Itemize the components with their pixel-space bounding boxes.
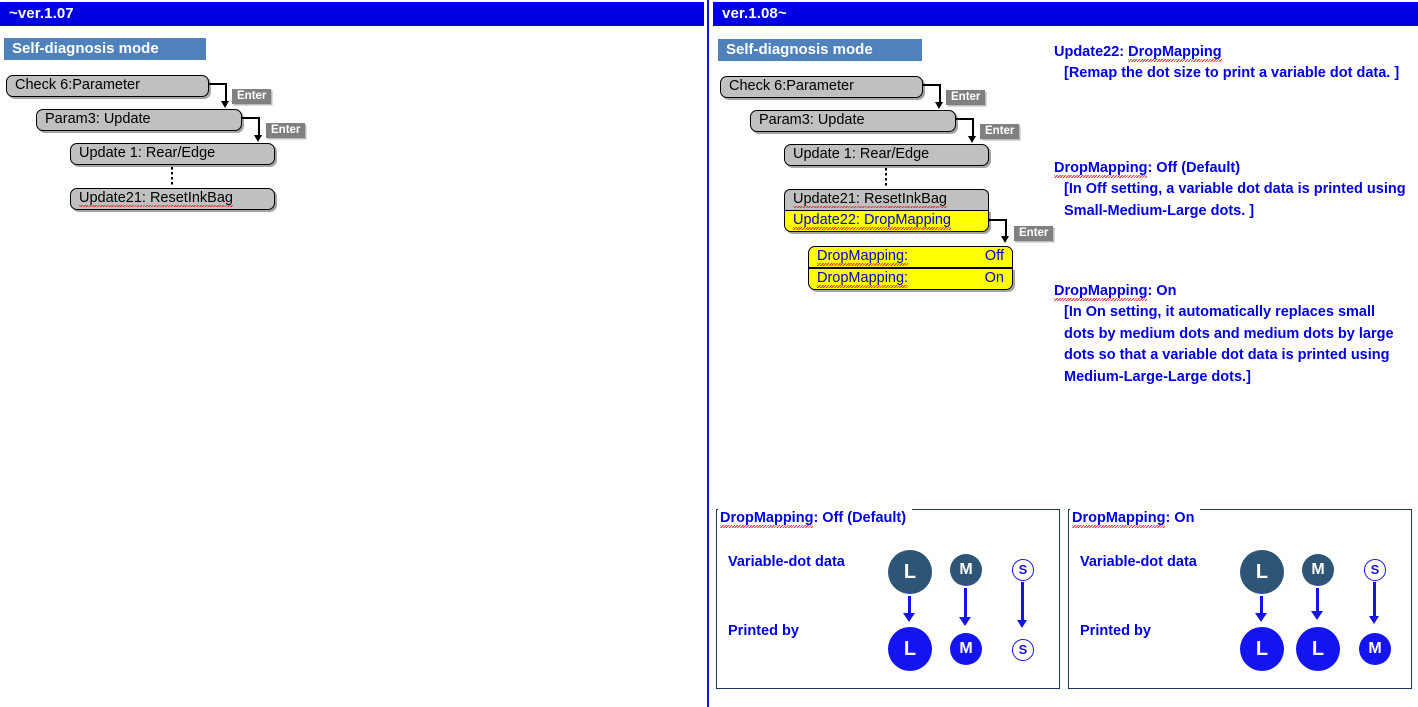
dot-output-large: L: [1240, 627, 1284, 671]
option-value: Off: [985, 247, 1004, 266]
description-dropmapping-off: DropMapping: Off (Default) [In Off setti…: [1054, 158, 1406, 222]
left-mode-badge-label: Self-diagnosis mode: [12, 40, 159, 57]
connector-arrowhead: [221, 101, 229, 108]
connector-arrowhead: [968, 136, 976, 143]
option-value: On: [985, 269, 1004, 288]
connector-arrowhead: [1001, 236, 1009, 243]
mapping-arrow: [964, 588, 967, 620]
diagram-title-term: DropMapping: [720, 510, 813, 526]
menu-item-label: Param3: Update: [759, 112, 865, 128]
enter-key-label: Enter: [1019, 227, 1048, 239]
connector-vertical: [258, 117, 260, 137]
left-version-label: ~ver.1.07: [9, 5, 74, 22]
dot-output-large: L: [888, 627, 932, 671]
menu-item-param3-update[interactable]: Param3: Update: [750, 110, 956, 132]
panel-divider: [707, 0, 709, 707]
menu-item-update1-rear-edge[interactable]: Update 1: Rear/Edge: [70, 143, 275, 165]
right-version-bar: ver.1.08~: [713, 2, 1418, 26]
description-body: [Remap the dot size to print a variable …: [1064, 63, 1406, 85]
connector-arrowhead: [935, 102, 943, 109]
dot-output-medium: M: [950, 633, 982, 665]
heading-prefix: Update22:: [1054, 44, 1128, 60]
description-update22: Update22: DropMapping [Remap the dot siz…: [1054, 42, 1406, 85]
diagram-row-label-output: Printed by: [728, 623, 799, 639]
heading-term: DropMapping: [1054, 160, 1147, 176]
heading-suffix: : On: [1147, 283, 1176, 299]
menu-item-label: Param3: Update: [45, 111, 151, 127]
description-heading: DropMapping: On: [1054, 281, 1406, 302]
diagram-row-label-output: Printed by: [1080, 623, 1151, 639]
diagram-title-suffix: : Off (Default): [813, 510, 906, 526]
menu-item-check-parameter[interactable]: Check 6:Parameter: [720, 76, 923, 98]
menu-item-update1-rear-edge[interactable]: Update 1: Rear/Edge: [784, 144, 989, 166]
option-name: DropMapping:: [817, 248, 908, 264]
diagram-row-label-input: Variable-dot data: [728, 554, 845, 570]
dot-source-large: L: [1240, 550, 1284, 594]
right-mode-badge: Self-diagnosis mode: [718, 39, 922, 61]
enter-key-label: Enter: [237, 90, 266, 102]
mapping-arrow: [1373, 582, 1376, 620]
description-body: [In Off setting, a variable dot data is …: [1064, 179, 1406, 222]
dot-source-medium: M: [950, 554, 982, 586]
connector-vertical: [225, 83, 227, 103]
connector-arrowhead: [254, 135, 262, 142]
dot-source-small: S: [1364, 559, 1386, 581]
heading-term: DropMapping: [1128, 44, 1221, 60]
description-body: [In On setting, it automatically replace…: [1064, 302, 1406, 388]
menu-item-check-parameter[interactable]: Check 6:Parameter: [6, 75, 209, 97]
mapping-arrowhead: [959, 617, 971, 626]
menu-continuation-dots: [885, 168, 887, 188]
dot-source-medium: M: [1302, 554, 1334, 586]
menu-item-update21-resetinkbag[interactable]: Update21: ResetInkBag: [70, 188, 275, 210]
diagram-row-label-input: Variable-dot data: [1080, 554, 1197, 570]
left-version-bar: ~ver.1.07: [0, 2, 704, 26]
right-version-label: ver.1.08~: [722, 5, 787, 22]
menu-item-label: Check 6:Parameter: [729, 78, 854, 94]
diagram-title-off: DropMapping: Off (Default): [718, 509, 912, 527]
left-mode-badge: Self-diagnosis mode: [4, 38, 206, 60]
enter-key-1: Enter: [946, 90, 985, 105]
diagram-title-suffix: : On: [1165, 510, 1194, 526]
enter-key-2: Enter: [266, 123, 305, 138]
menu-item-label: Update22: DropMapping: [793, 212, 951, 228]
heading-suffix: : Off (Default): [1147, 160, 1240, 176]
menu-item-label: Update 1: Rear/Edge: [793, 146, 929, 162]
description-heading: DropMapping: Off (Default): [1054, 158, 1406, 179]
mapping-arrowhead: [1017, 620, 1027, 628]
right-mode-badge-label: Self-diagnosis mode: [726, 41, 873, 58]
option-dropmapping-off[interactable]: DropMapping: Off: [808, 246, 1013, 268]
menu-continuation-dots: [171, 167, 173, 187]
enter-key-label: Enter: [985, 125, 1014, 137]
option-name: DropMapping:: [817, 270, 908, 286]
dot-output-large: L: [1296, 627, 1340, 671]
diagram-title-term: DropMapping: [1072, 510, 1165, 526]
heading-term: DropMapping: [1054, 283, 1147, 299]
menu-item-label: Check 6:Parameter: [15, 77, 140, 93]
enter-key-3: Enter: [1014, 226, 1053, 241]
diagram-panel-on: [1068, 509, 1412, 689]
enter-key-label: Enter: [271, 124, 300, 136]
dot-source-small: S: [1012, 559, 1034, 581]
menu-item-label: Update21: ResetInkBag: [793, 191, 947, 207]
menu-item-label: Update 1: Rear/Edge: [79, 145, 215, 161]
diagram-panel-off: [716, 509, 1060, 689]
menu-item-update22-dropmapping[interactable]: Update22: DropMapping: [784, 210, 989, 232]
dot-output-small: S: [1012, 639, 1034, 661]
mapping-arrowhead: [1311, 611, 1323, 620]
mapping-arrowhead: [903, 613, 915, 622]
diagram-title-on: DropMapping: On: [1070, 509, 1200, 527]
menu-item-label: Update21: ResetInkBag: [79, 190, 233, 206]
connector-vertical: [939, 84, 941, 104]
dot-output-medium: M: [1359, 633, 1391, 665]
dot-source-large: L: [888, 550, 932, 594]
enter-key-1: Enter: [232, 89, 271, 104]
mapping-arrow: [1021, 582, 1024, 624]
enter-key-2: Enter: [980, 124, 1019, 139]
mapping-arrowhead: [1255, 613, 1267, 622]
description-heading: Update22: DropMapping: [1054, 42, 1406, 63]
menu-item-update21-resetinkbag[interactable]: Update21: ResetInkBag: [784, 189, 989, 211]
mapping-arrowhead: [1369, 616, 1379, 624]
menu-item-param3-update[interactable]: Param3: Update: [36, 109, 242, 131]
option-dropmapping-on[interactable]: DropMapping: On: [808, 268, 1013, 290]
connector-vertical: [972, 118, 974, 138]
description-dropmapping-on: DropMapping: On [In On setting, it autom…: [1054, 281, 1406, 388]
enter-key-label: Enter: [951, 91, 980, 103]
